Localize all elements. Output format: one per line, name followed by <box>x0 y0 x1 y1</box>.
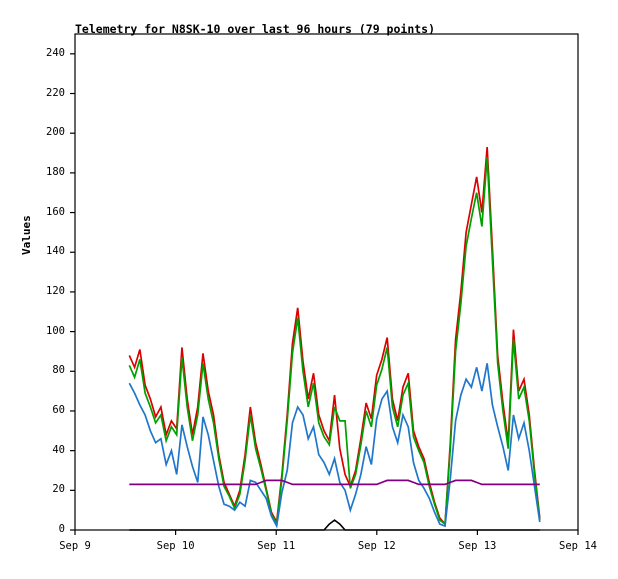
line-series_blue <box>129 363 539 526</box>
line-series_black <box>129 520 539 530</box>
line-series_purple <box>129 480 539 484</box>
plot-area <box>0 0 618 579</box>
line-series_green <box>129 157 539 524</box>
axes-group <box>70 34 578 535</box>
chart-root: Telemetry for N8SK-10 over last 96 hours… <box>0 0 618 579</box>
plot-frame <box>75 34 578 530</box>
series-group <box>129 147 539 530</box>
